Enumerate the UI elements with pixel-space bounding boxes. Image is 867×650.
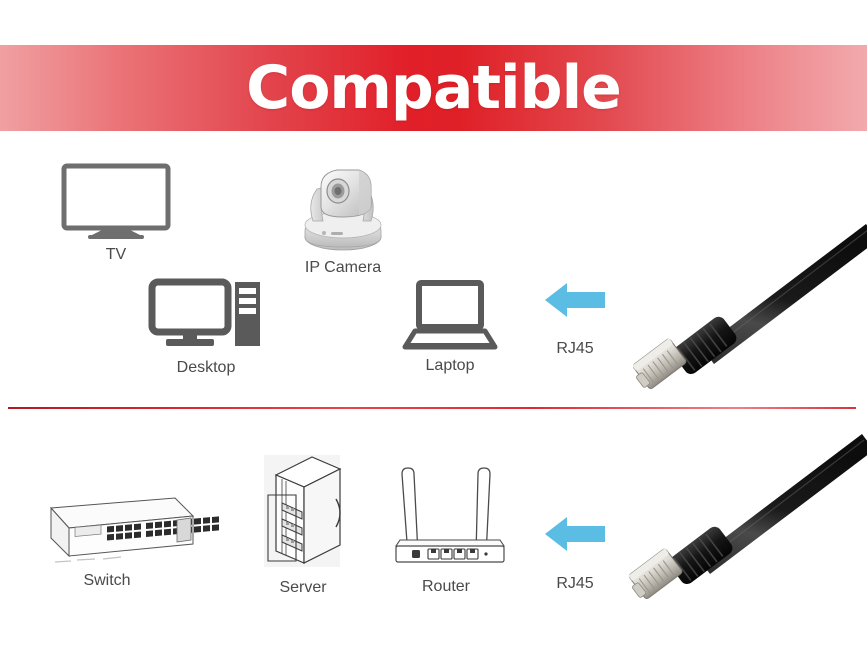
device-server: Server bbox=[262, 455, 344, 600]
device-router: Router bbox=[390, 460, 502, 600]
device-label-laptop: Laptop bbox=[426, 357, 475, 375]
arrow-left-icon-bottom bbox=[545, 515, 605, 553]
switch-icon bbox=[25, 490, 195, 568]
header-banner: Compatible bbox=[0, 45, 867, 131]
connector-label-rj45-bottom: RJ45 bbox=[556, 575, 593, 593]
rj45-cable-top bbox=[630, 230, 867, 380]
rj45-cable-bottom bbox=[630, 430, 867, 600]
device-label-switch: Switch bbox=[83, 572, 130, 590]
device-label-desktop: Desktop bbox=[177, 359, 236, 377]
section-divider bbox=[8, 407, 856, 409]
device-laptop: Laptop bbox=[405, 281, 495, 381]
device-label-tv: TV bbox=[106, 246, 126, 264]
ip-camera-icon bbox=[297, 163, 389, 255]
page-title: Compatible bbox=[246, 58, 621, 118]
device-label-router: Router bbox=[422, 578, 470, 596]
router-icon bbox=[390, 460, 510, 570]
device-desktop: Desktop bbox=[150, 279, 262, 379]
device-ip-camera: IP Camera bbox=[297, 163, 389, 278]
desktop-icon bbox=[150, 279, 262, 357]
arrow-left-icon-top bbox=[545, 281, 605, 319]
rj45-connector-icon bbox=[630, 230, 867, 380]
rj45-connector-icon bbox=[630, 430, 867, 600]
connector-label-rj45-top: RJ45 bbox=[556, 340, 593, 358]
device-tv: TV bbox=[60, 162, 172, 272]
compatibility-infographic: Compatible TV bbox=[0, 0, 867, 650]
laptop-icon bbox=[405, 281, 495, 353]
tv-icon bbox=[60, 162, 172, 242]
device-switch: Switch bbox=[25, 490, 189, 600]
connector-label-wrap-top: RJ45 bbox=[540, 340, 610, 364]
device-label-ip-camera: IP Camera bbox=[305, 259, 381, 277]
server-rack-icon bbox=[262, 455, 344, 575]
connector-label-wrap-bottom: RJ45 bbox=[540, 575, 610, 599]
device-label-server: Server bbox=[279, 579, 326, 597]
